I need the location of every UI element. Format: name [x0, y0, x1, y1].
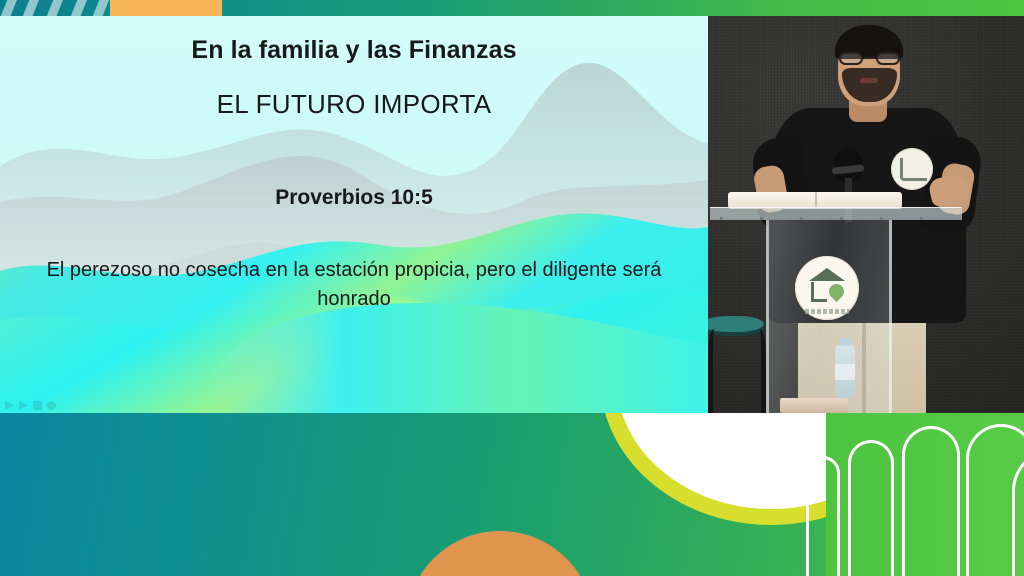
scripture-text: El perezoso no cosecha en la estación pr… [0, 256, 708, 314]
pulpit-logo-icon [795, 256, 859, 320]
glasses-right-lens [876, 52, 900, 65]
scripture-reference: Proverbios 10:5 [0, 186, 708, 210]
speaker-camera-feed[interactable] [708, 16, 1024, 413]
open-bible-icon [728, 192, 902, 208]
speaker-mouth [860, 78, 878, 83]
slide-text-layer: En la familia y las Finanzas EL FUTURO I… [0, 16, 708, 413]
pulpit-logo-roof [809, 268, 845, 281]
bottle-label [835, 364, 855, 380]
arch-lines-decor [806, 413, 1024, 576]
slide-title-line-1: En la familia y las Finanzas [0, 36, 708, 65]
pulpit-logo-heart [826, 281, 847, 302]
presentation-slide-panel[interactable]: En la familia y las Finanzas EL FUTURO I… [0, 16, 708, 413]
slide-title-line-2: EL FUTURO IMPORTA [0, 89, 708, 120]
orange-accent-block [110, 0, 222, 16]
stream-overlay-stage: En la familia y las Finanzas EL FUTURO I… [0, 0, 1024, 576]
top-decor-strip [0, 0, 1024, 16]
lower-third-banner: IGLESIA CRISTIANA EL FIN VALENCIA TEMA: … [0, 413, 1024, 576]
bottle-cap [840, 338, 850, 346]
pulpit-top-shelf [710, 207, 962, 220]
glasses-icon [839, 52, 900, 65]
water-bottle-icon [835, 338, 855, 398]
diagonal-stripes-decor [0, 0, 118, 16]
glasses-left-lens [839, 52, 863, 65]
tshirt-logo-icon [891, 148, 933, 190]
pulpit-logo-book [811, 282, 827, 302]
orange-circle-decor [406, 531, 594, 576]
glasses-bridge [864, 57, 875, 59]
pulpit-logo-caption [805, 309, 849, 314]
shelf-book-icon [780, 398, 848, 413]
